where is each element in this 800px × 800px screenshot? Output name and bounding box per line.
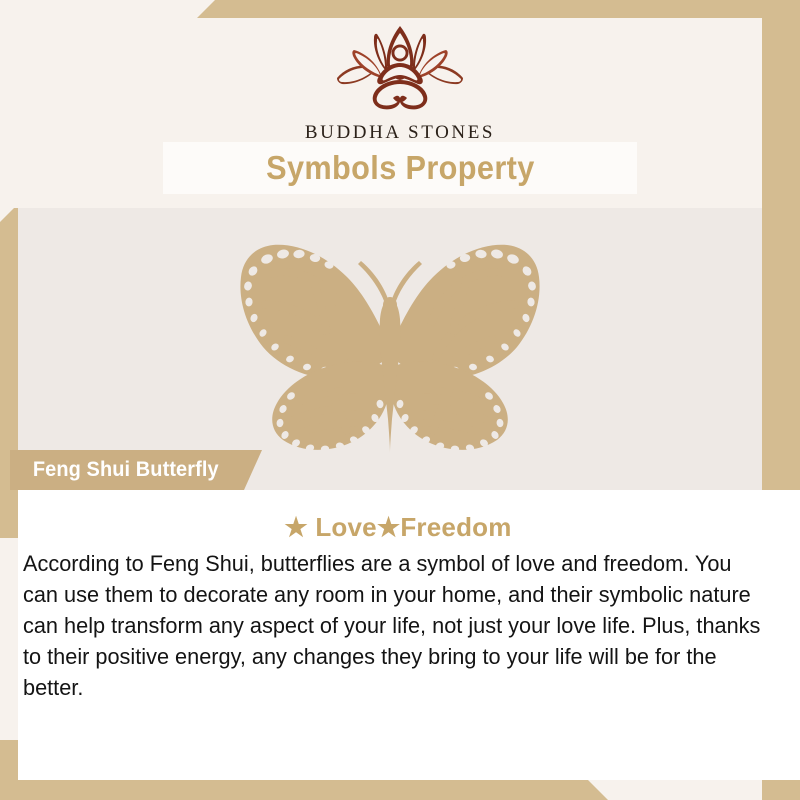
butterfly-icon <box>225 229 555 469</box>
brand-logo: BUDDHA STONES <box>305 22 495 144</box>
header: BUDDHA STONES <box>0 0 800 142</box>
content-paragraph: According to Feng Shui, butterflies are … <box>23 548 768 703</box>
gold-bottom-left-corner <box>0 740 20 800</box>
feng-shui-banner: Feng Shui Butterfly <box>10 450 262 490</box>
brand-name: BUDDHA STONES <box>305 122 495 144</box>
page-title: Symbols Property <box>266 149 535 187</box>
gold-bottom-border <box>0 778 800 800</box>
banner-label: Feng Shui Butterfly <box>33 458 219 482</box>
content-panel: ★ Love★Freedom According to Feng Shui, b… <box>18 490 800 780</box>
butterfly-panel <box>18 208 762 490</box>
content-subtitle: ★ Love★Freedom <box>18 512 778 543</box>
title-band: Symbols Property <box>163 142 637 194</box>
poster-root: BUDDHA STONES Symbols Property <box>0 0 800 800</box>
lotus-meditation-figure-icon <box>325 22 475 118</box>
